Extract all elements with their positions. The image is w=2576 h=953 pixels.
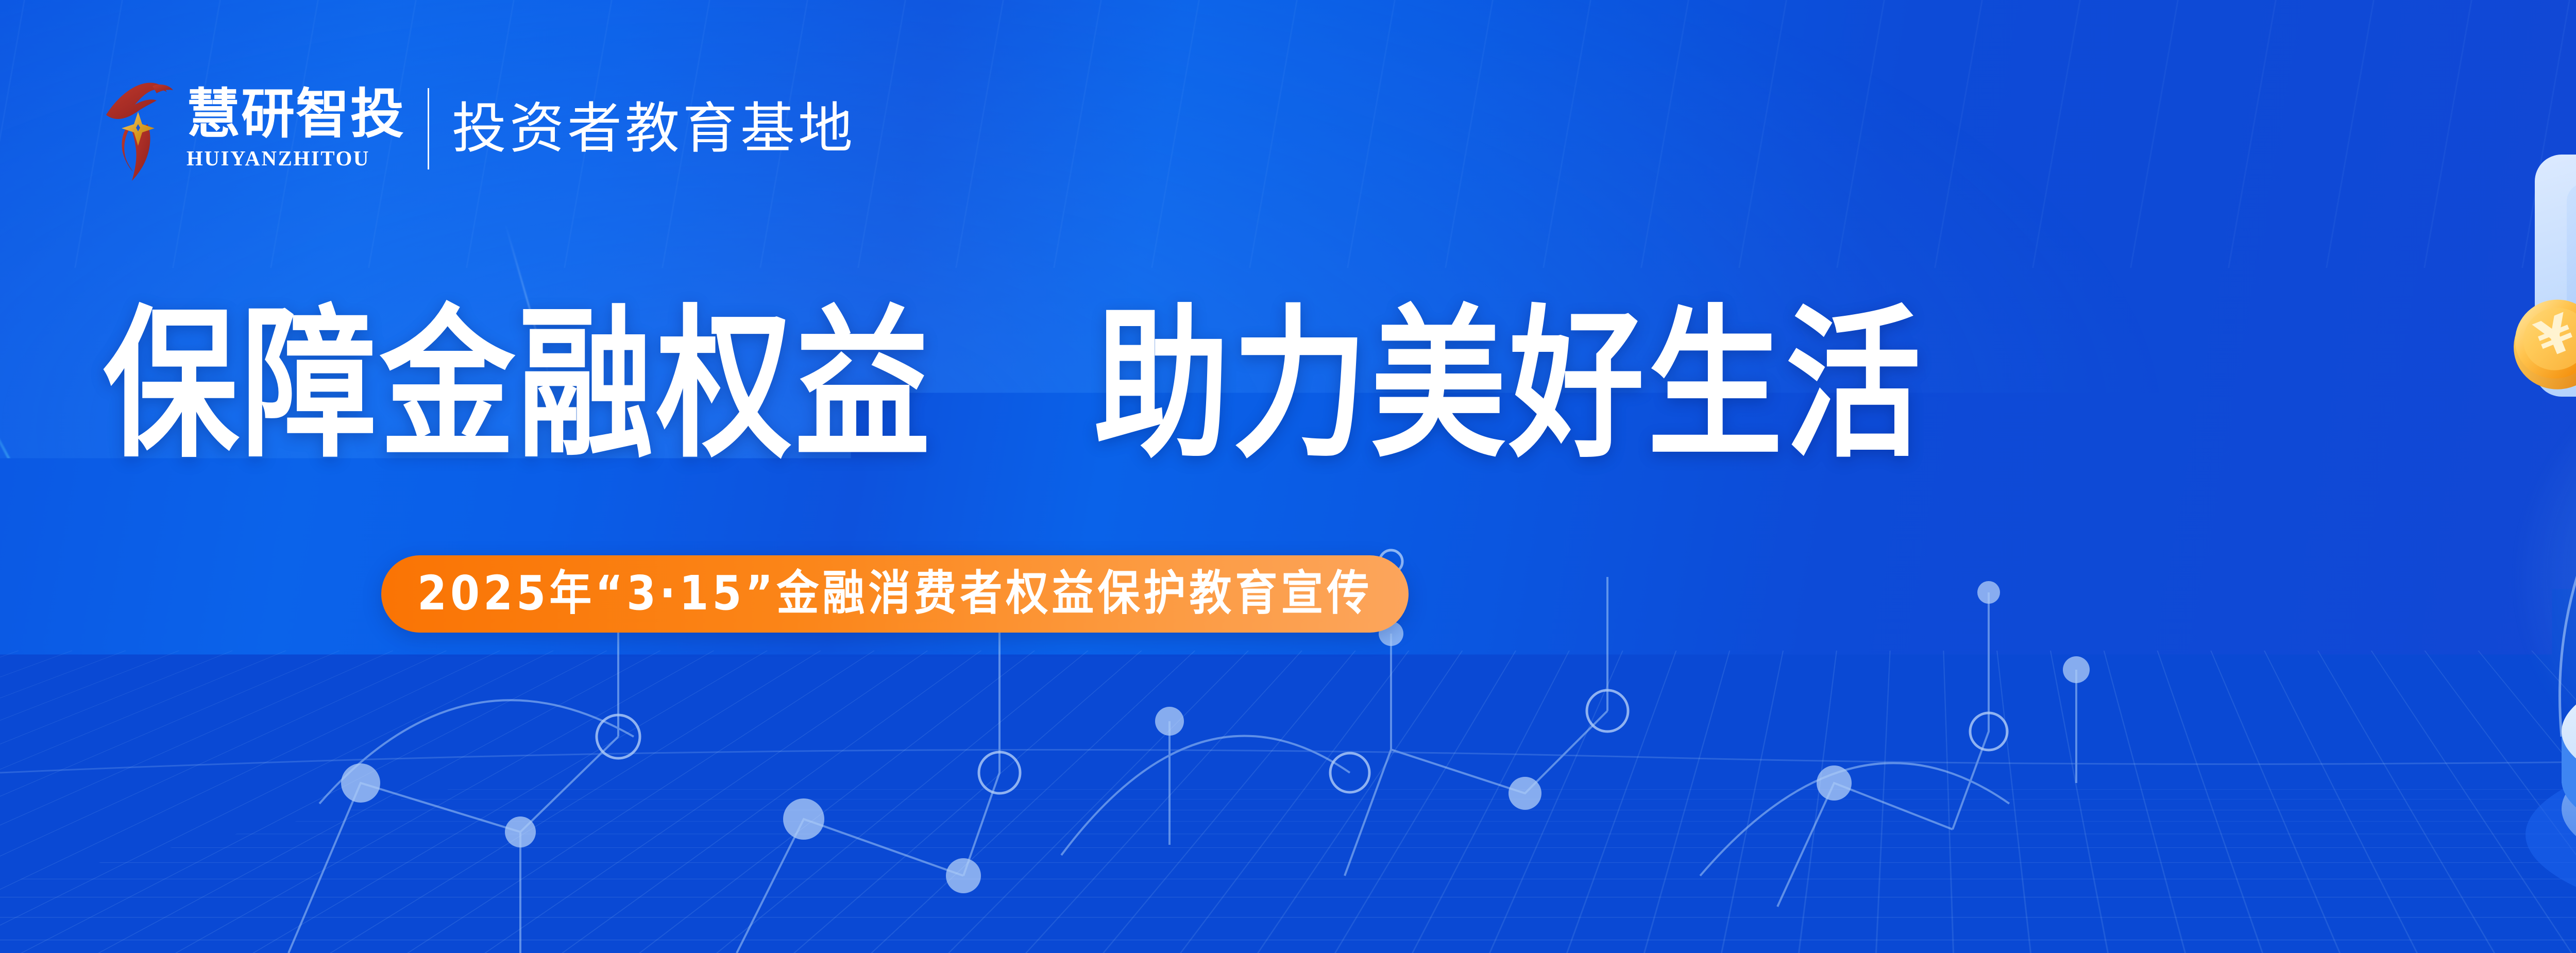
background-grid-horizontal: [0, 790, 2576, 953]
brand-name-en: HUIYANZHITOU: [187, 146, 405, 171]
headline-part-2: 助力美好生活: [1094, 291, 1924, 480]
brand-divider: [428, 88, 429, 169]
campaign-badge: 2025年“3·15”金融消费者权益保护教育宣传: [381, 555, 1409, 633]
light-streak-3: [906, 670, 1032, 953]
page-title: 保障金融权益 助力美好生活: [103, 304, 1924, 467]
brand-lockup: 慧研智投 HUIYANZHITOU 投资者教育基地: [103, 72, 856, 185]
banner-root: 慧研智投 HUIYANZHITOU 投资者教育基地 保障金融权益 助力美好生活 …: [0, 0, 2576, 953]
phoenix-bird-star-logo-icon: [103, 75, 175, 183]
background-grid-vertical: [0, 651, 2576, 953]
brand-name-cn: 慧研智投: [187, 87, 405, 141]
light-streak-5: [1597, 608, 1677, 886]
campaign-badge-label: 2025年“3·15”金融消费者权益保护教育宣传: [417, 570, 1372, 618]
brand-subtitle: 投资者教育基地: [452, 101, 856, 156]
headline-part-1: 保障金融权益: [103, 291, 933, 480]
hero-illustration: ¥ ¥ ¥ ¥: [2479, 0, 2576, 953]
light-streak-2: [61, 608, 251, 953]
brand-names: 慧研智投 HUIYANZHITOU: [187, 87, 405, 171]
